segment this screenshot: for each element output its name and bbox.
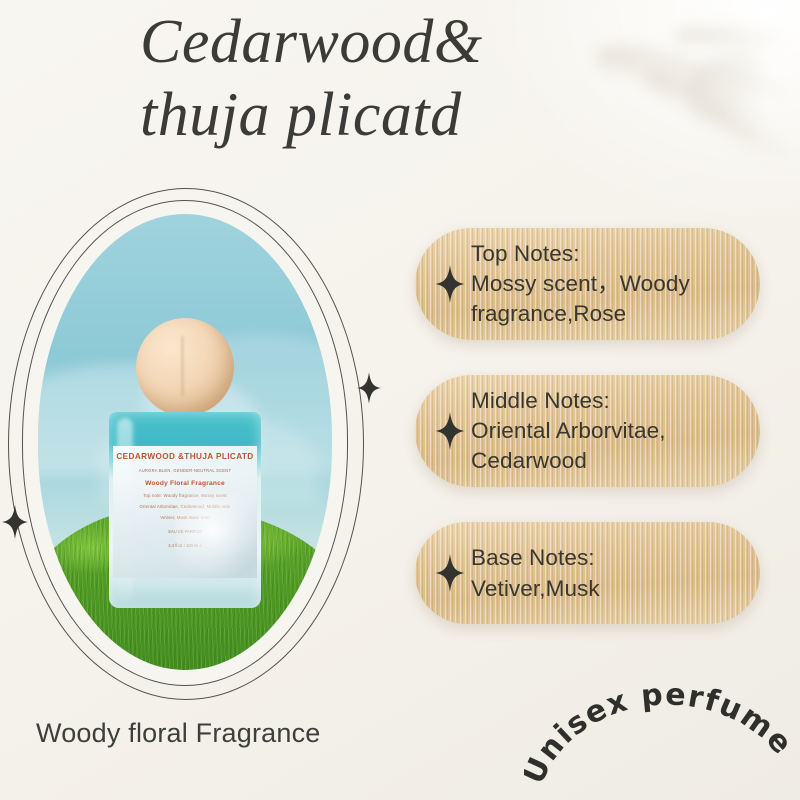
- note-card-text: Top Notes: Mossy scent，Woody fragrance,R…: [471, 239, 744, 329]
- wooden-sphere-cap: [136, 318, 234, 416]
- arc-text-label: Unisex perfume: [524, 677, 800, 789]
- perfume-poster: Cedarwood& thuja plicatd CEDARWOOD &THUJ…: [0, 0, 800, 800]
- product-oval-frame: CEDARWOOD &THUJA PLICATD AURORA BLEN, GE…: [8, 188, 364, 700]
- note-card-heading: Top Notes:: [471, 239, 744, 269]
- note-card-line-1: Mossy scent，Woody: [471, 269, 744, 299]
- sparkle-star-icon: [429, 412, 471, 450]
- note-card-text: Middle Notes: Oriental Arborvitae, Cedar…: [471, 386, 744, 476]
- page-title-line-2: thuja plicatd: [140, 79, 780, 152]
- note-card-line-1: Vetiver,Musk: [471, 573, 744, 604]
- label-note-line-2: Oriental Arborvitae, Cedarwood, Middle n…: [113, 504, 257, 509]
- product-caption: Woody floral Fragrance: [36, 718, 321, 749]
- sparkle-star-icon: [2, 505, 28, 539]
- arc-text-path: Unisex perfume: [524, 677, 800, 789]
- product-photo: CEDARWOOD &THUJA PLICATD AURORA BLEN, GE…: [38, 214, 332, 670]
- label-title: CEDARWOOD &THUJA PLICATD: [113, 452, 257, 461]
- label-footer-line-1: EAU DE PARFUM: [113, 529, 257, 534]
- page-title: Cedarwood& thuja plicatd: [140, 6, 780, 151]
- sparkle-star-icon: [357, 372, 381, 404]
- arched-unisex-perfume-text: Unisex perfume: [524, 640, 800, 800]
- bottle-label: CEDARWOOD &THUJA PLICATD AURORA BLEN, GE…: [113, 446, 257, 578]
- note-card-heading: Middle Notes:: [471, 386, 744, 416]
- note-card-top[interactable]: Top Notes: Mossy scent，Woody fragrance,R…: [415, 228, 760, 340]
- label-subtitle: AURORA BLEN, GENDER-NEUTRAL SCENT: [113, 468, 257, 473]
- note-card-text: Base Notes: Vetiver,Musk: [471, 542, 744, 604]
- label-note-line-3: Vetiver, Musk Base note: [113, 515, 257, 520]
- label-footer-line-2: 3.4 fl.oz / 100 ml e: [113, 543, 257, 548]
- note-card-line-2: Cedarwood: [471, 446, 744, 476]
- note-card-line-2: fragrance,Rose: [471, 299, 744, 329]
- glass-body: CEDARWOOD &THUJA PLICATD AURORA BLEN, GE…: [109, 412, 261, 608]
- sparkle-star-icon: [429, 265, 471, 303]
- sparkle-star-icon: [429, 554, 471, 592]
- note-card-middle[interactable]: Middle Notes: Oriental Arborvitae, Cedar…: [415, 375, 760, 487]
- note-card-heading: Base Notes:: [471, 542, 744, 573]
- note-card-line-1: Oriental Arborvitae,: [471, 416, 744, 446]
- page-title-line-1: Cedarwood&: [140, 8, 483, 76]
- label-note-line-1: Top note: Woody fragrance, Mossy scent: [113, 493, 257, 498]
- label-tagline: Woody Floral Fragrance: [113, 480, 257, 487]
- note-card-base[interactable]: Base Notes: Vetiver,Musk: [415, 522, 760, 624]
